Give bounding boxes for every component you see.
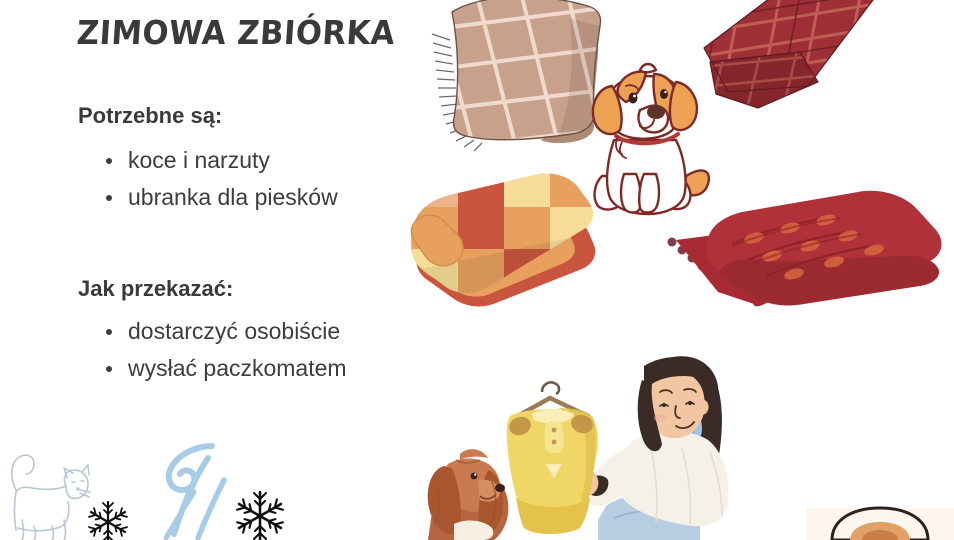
how-to-donate-list: dostarczyć osobiście wysłać paczkomatem: [100, 313, 347, 388]
list-item: koce i narzuty: [100, 142, 338, 179]
how-to-donate-heading: Jak przekazać:: [78, 277, 233, 301]
needed-items-list: koce i narzuty ubranka dla piesków: [100, 142, 338, 217]
woman-with-dog-jacket-icon: [438, 348, 738, 540]
poster-canvas: ZIMOWA ZBIÓRKA Potrzebne są: koce i narz…: [0, 0, 954, 540]
list-item: ubranka dla piesków: [100, 179, 338, 216]
list-item: wysłać paczkomatem: [100, 350, 347, 387]
text-content-column: ZIMOWA ZBIÓRKA Potrzebne są: koce i narz…: [0, 0, 430, 540]
list-item: dostarczyć osobiście: [100, 313, 347, 350]
plaid-red-blanket-icon: [700, 0, 880, 115]
puppy-icon: [578, 58, 714, 223]
needed-items-heading: Potrzebne są:: [78, 104, 222, 128]
page-title: ZIMOWA ZBIÓRKA: [76, 16, 396, 49]
food-bowl-card-icon: [806, 508, 954, 540]
